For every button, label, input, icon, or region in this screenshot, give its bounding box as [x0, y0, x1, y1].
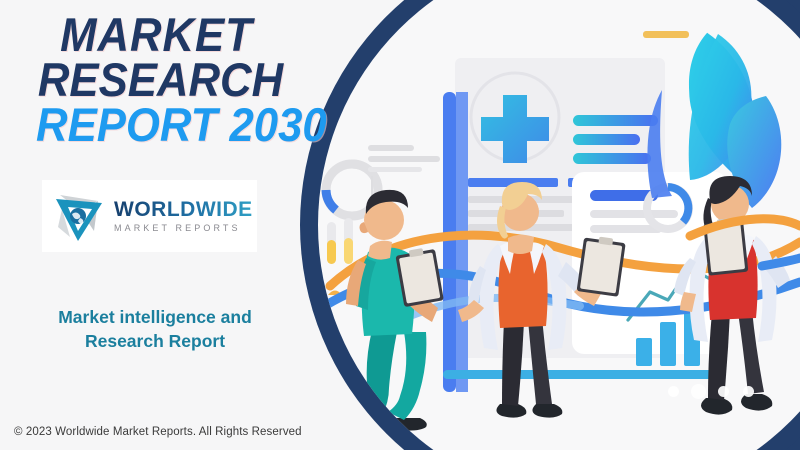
title-line-report-2030: REPORT 2030 [36, 102, 327, 147]
logo-wordmark: WORLDWIDE MARKET REPORTS [114, 199, 253, 233]
title-line-market: MARKET [36, 12, 327, 57]
carousel-dot-2[interactable] [693, 386, 704, 397]
carousel-dot-3[interactable] [718, 386, 729, 397]
tagline: Market intelligence and Research Report [30, 306, 280, 353]
market-research-banner: MARKET RESEARCH REPORT 2030 WORLDWIDE MA… [0, 0, 800, 450]
worldwide-market-reports-logo[interactable]: WORLDWIDE MARKET REPORTS [42, 180, 257, 252]
carousel-dot-1[interactable] [668, 386, 679, 397]
carousel-dots[interactable] [668, 386, 754, 397]
tagline-line-2: Research Report [30, 330, 280, 354]
globe-triangle-logo-icon [48, 187, 110, 245]
page-title: MARKET RESEARCH REPORT 2030 [36, 12, 349, 147]
title-line-research: RESEARCH [36, 57, 327, 102]
carousel-dot-4[interactable] [743, 386, 754, 397]
logo-name: WORLDWIDE [114, 199, 253, 220]
logo-subtitle: MARKET REPORTS [114, 224, 253, 233]
doctor-scrubs-teal [346, 190, 438, 431]
yellow-dash [643, 31, 689, 38]
copyright-notice: © 2023 Worldwide Market Reports. All Rig… [14, 426, 302, 438]
tagline-line-1: Market intelligence and [30, 306, 280, 330]
clipboard-2 [577, 235, 627, 297]
